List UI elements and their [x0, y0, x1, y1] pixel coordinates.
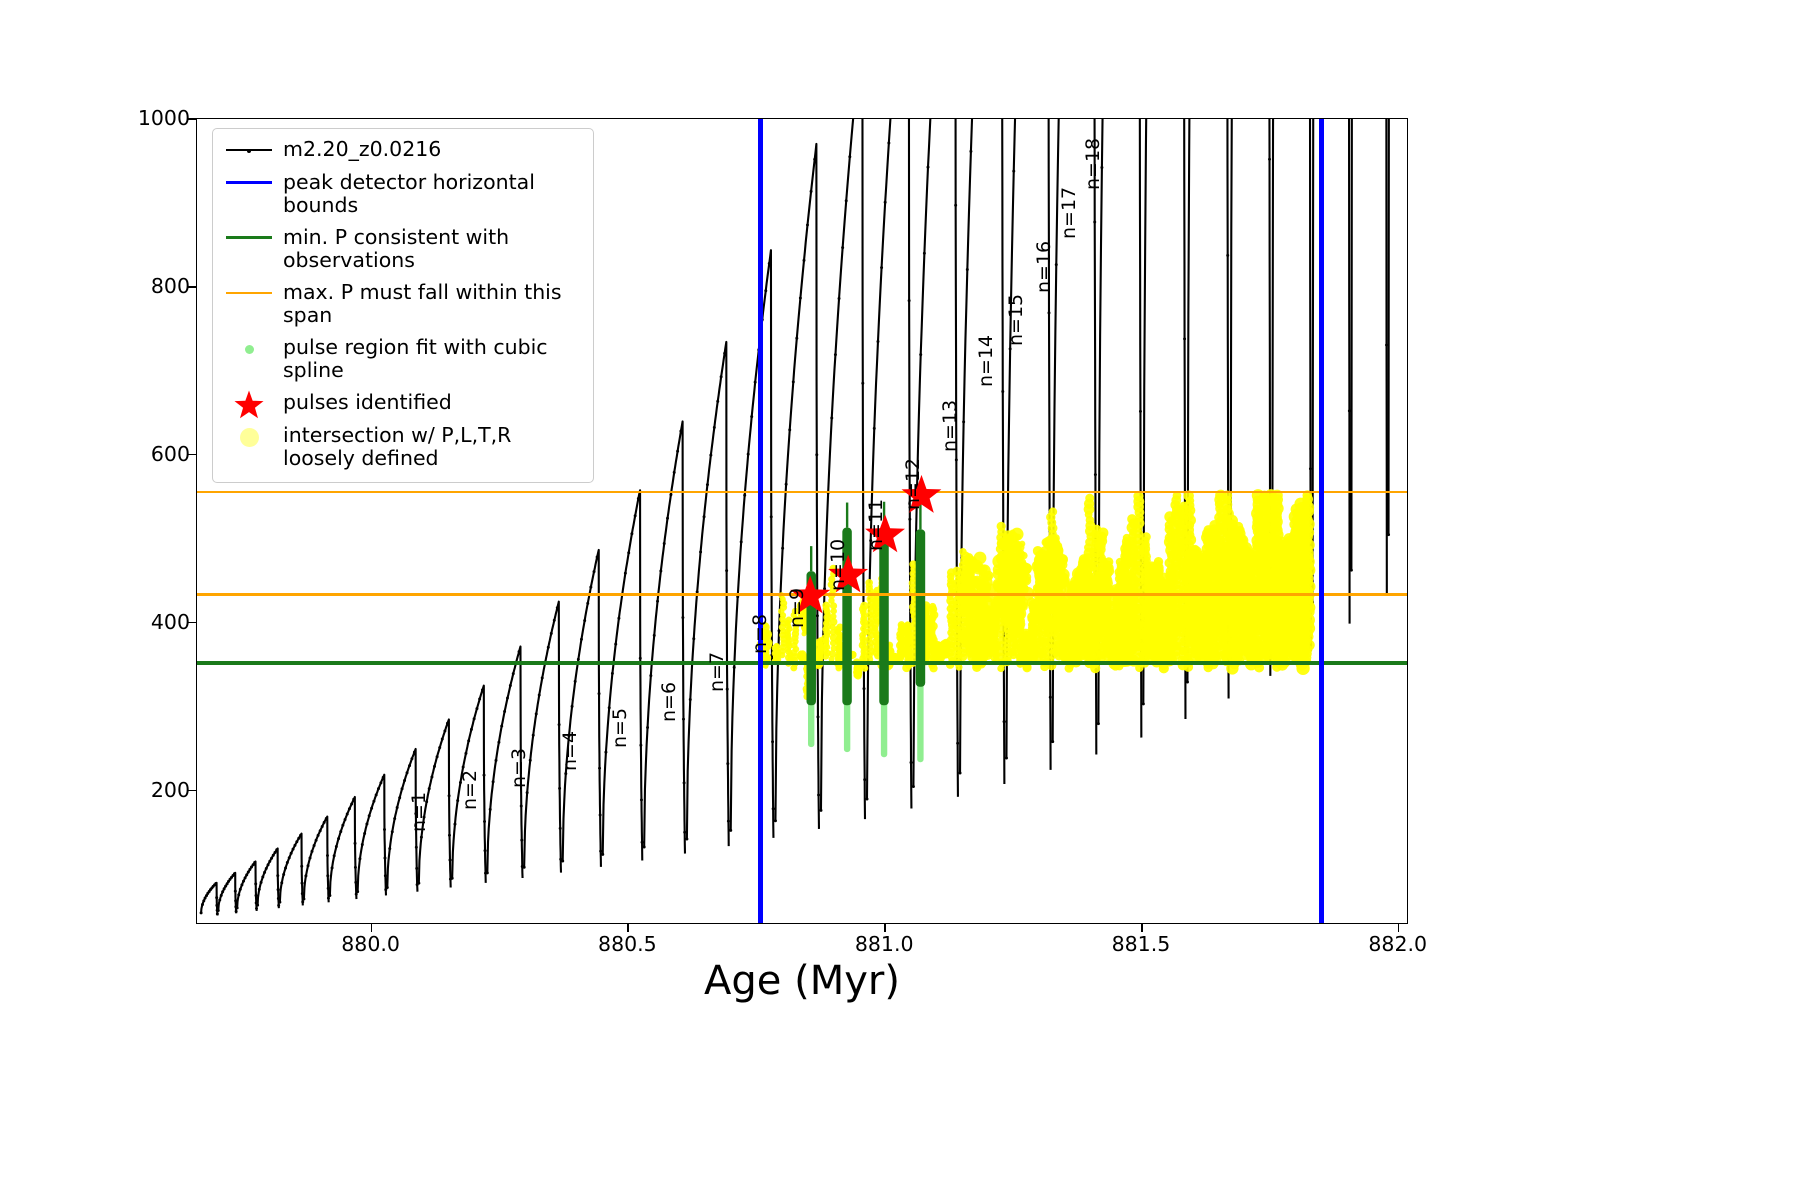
pulse-index-label: n=9	[786, 588, 808, 628]
legend-item-label: m2.20_z0.0216	[277, 138, 441, 161]
pulse-index-label: n=11	[865, 499, 887, 551]
x-tick-label: 880.0	[311, 932, 431, 956]
legend-item-label: peak detector horizontal bounds	[277, 171, 583, 217]
x-tick-mark	[884, 924, 886, 932]
y-tick-label: 600	[70, 442, 190, 466]
pulse-index-label: n=13	[939, 399, 961, 451]
y-tick-mark	[188, 118, 196, 120]
pulse-index-label: n=10	[827, 539, 849, 591]
chart-root: FM period (days) 2004006008001000 880.08…	[0, 0, 1800, 1200]
pulse-index-label: n=12	[902, 458, 924, 510]
legend-item-label: intersection w/ P,L,T,Rloosely defined	[277, 424, 511, 470]
legend-key-line	[223, 226, 277, 250]
x-tick-label: 882.0	[1338, 932, 1458, 956]
legend-dot-swatch	[245, 345, 254, 354]
legend-dot-swatch	[240, 428, 259, 447]
legend-item[interactable]: pulses identified	[223, 391, 583, 415]
pulse-index-label: n=6	[658, 682, 680, 722]
legend-key-line	[223, 281, 277, 305]
legend-key-dot	[223, 336, 277, 360]
x-tick-label: 881.5	[1081, 932, 1201, 956]
peak-detector-bound-2	[1319, 119, 1323, 923]
legend-star-swatch	[231, 388, 267, 422]
pulse-index-label: n=1	[408, 792, 430, 832]
peak-detector-bound-1	[758, 119, 762, 923]
pulse-index-label: n=18	[1082, 137, 1104, 189]
y-tick-mark	[188, 286, 196, 288]
legend-item[interactable]: intersection w/ P,L,T,Rloosely defined	[223, 424, 583, 470]
y-tick-label: 200	[70, 778, 190, 802]
x-tick-label: 880.5	[567, 932, 687, 956]
legend-key-dot	[223, 424, 277, 448]
x-axis-title: Age (Myr)	[196, 958, 1408, 1004]
pulse-index-label: n=3	[508, 748, 530, 788]
legend-line-swatch	[226, 236, 272, 239]
pulse-index-label: n=17	[1058, 187, 1080, 239]
legend-item[interactable]: min. P consistent with observations	[223, 226, 583, 272]
y-tick-label: 800	[70, 274, 190, 298]
pulse-index-label: n=2	[459, 770, 481, 810]
x-tick-mark	[371, 924, 373, 932]
legend-line-swatch	[226, 181, 272, 184]
pulse-index-label: n=15	[1005, 294, 1027, 346]
pulse-index-label: n=8	[749, 614, 771, 654]
x-tick-mark	[1398, 924, 1400, 932]
legend-item[interactable]: peak detector horizontal bounds	[223, 171, 583, 217]
pulse-index-label: n=14	[975, 335, 997, 387]
legend-item-label: pulse region fit with cubic spline	[277, 336, 583, 382]
legend-item[interactable]: pulse region fit with cubic spline	[223, 336, 583, 382]
y-tick-label: 400	[70, 610, 190, 634]
x-tick-mark	[627, 924, 629, 932]
y-tick-mark	[188, 622, 196, 624]
legend-item-label: min. P consistent with observations	[277, 226, 583, 272]
y-tick-label: 1000	[70, 106, 190, 130]
legend-item-label: pulses identified	[277, 391, 452, 414]
y-tick-mark	[188, 790, 196, 792]
legend-key-line	[223, 138, 277, 162]
pulse-index-label: n=5	[609, 708, 631, 748]
pulse-index-label: n=16	[1033, 241, 1055, 293]
legend: m2.20_z0.0216peak detector horizontal bo…	[212, 128, 594, 483]
legend-item[interactable]: max. P must fall within this span	[223, 281, 583, 327]
y-tick-mark	[188, 454, 196, 456]
pulse-index-label: n=4	[559, 731, 581, 771]
x-tick-mark	[1141, 924, 1143, 932]
x-tick-label: 881.0	[824, 932, 944, 956]
legend-key-star	[223, 391, 277, 415]
legend-key-line	[223, 171, 277, 195]
legend-point-marker	[247, 149, 251, 153]
legend-item[interactable]: m2.20_z0.0216	[223, 138, 583, 162]
pulse-index-label: n=7	[706, 652, 728, 692]
legend-line-swatch	[226, 292, 272, 294]
legend-item-label: max. P must fall within this span	[277, 281, 583, 327]
